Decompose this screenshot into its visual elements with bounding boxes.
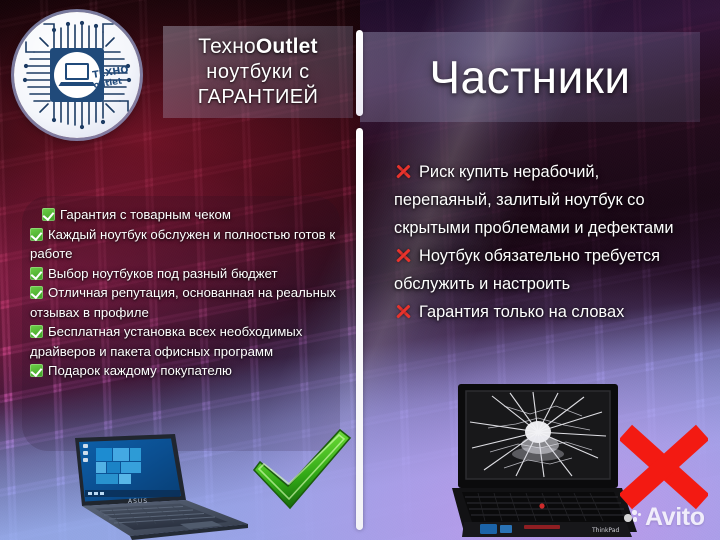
red-cross-icon	[394, 246, 413, 265]
list-item: Гарантия с товарным чеком	[42, 205, 342, 225]
list-item: Подарок каждому покупателю	[30, 361, 342, 381]
header-left-line2: ноутбуки с	[206, 62, 310, 84]
avito-dots-icon	[624, 510, 641, 525]
green-check-box-icon	[30, 325, 43, 338]
good-laptop-image: ASUS	[52, 432, 252, 540]
list-item: Отличная репутация, основанная на реальн…	[30, 283, 342, 322]
pros-list: Гарантия с товарным чеком Каждый ноутбук…	[30, 205, 342, 381]
techno-outlet-chip-laptop-logo-icon: ТЕХНО outlet	[14, 12, 140, 138]
open-asus-laptop-windows-desktop-icon: ASUS	[52, 432, 252, 540]
column-divider	[356, 128, 363, 530]
cons-list: Риск купить нерабочий, перепаяный, залит…	[394, 158, 694, 326]
list-item-label: Подарок каждому покупателю	[48, 363, 232, 378]
broken-screen-thinkpad-laptop-icon: ThinkPad	[432, 382, 652, 540]
list-item-label: Ноутбук обязательно требуется обслужить …	[394, 247, 660, 293]
list-item: Выбор ноутбуков под разный бюджет	[30, 264, 342, 284]
svg-text:ASUS: ASUS	[128, 498, 148, 505]
header-left-title-box: ТехноOutlet ноутбуки с ГАРАНТИЕЙ	[163, 26, 353, 118]
list-item: Бесплатная установка всех необходимых др…	[30, 322, 342, 361]
brand-name-prefix: Техно	[198, 35, 256, 58]
brand-name: ТехноOutlet	[198, 36, 318, 59]
promo-poster: ТЕХНО outlet ТехноOutlet ноутбуки с ГАРА…	[0, 0, 720, 540]
divider-top-segment	[356, 30, 363, 116]
list-item-label: Каждый ноутбук обслужен и полностью гото…	[30, 227, 335, 262]
list-item-label: Выбор ноутбуков под разный бюджет	[48, 266, 278, 281]
green-check-box-icon	[42, 208, 55, 221]
bad-laptop-image: ThinkPad	[432, 382, 652, 540]
list-item: Гарантия только на словах	[394, 298, 694, 326]
list-item: Каждый ноутбук обслужен и полностью гото…	[30, 225, 342, 264]
avito-watermark: Avito	[624, 505, 705, 530]
header-right-title: Частники	[429, 54, 630, 100]
list-item-label: Гарантия только на словах	[419, 303, 624, 321]
brand-name-suffix: Outlet	[256, 35, 318, 58]
green-check-box-icon	[30, 364, 43, 377]
red-cross-icon	[394, 162, 413, 181]
list-item: Ноутбук обязательно требуется обслужить …	[394, 242, 694, 298]
avito-wordmark: Avito	[645, 505, 705, 530]
header-left-line3: ГАРАНТИЕЙ	[198, 87, 319, 109]
big-green-checkmark-icon	[248, 426, 356, 514]
list-item-label: Риск купить нерабочий, перепаяный, залит…	[394, 163, 674, 237]
brand-logo: ТЕХНО outlet	[14, 12, 140, 138]
header-right-title-box: Частники	[360, 32, 700, 122]
red-cross-icon	[394, 302, 413, 321]
green-check-box-icon	[30, 228, 43, 241]
big-red-x-icon	[620, 424, 708, 510]
verdict-good	[248, 426, 356, 514]
green-check-box-icon	[30, 286, 43, 299]
verdict-bad	[620, 424, 708, 510]
svg-text:ThinkPad: ThinkPad	[591, 527, 619, 534]
list-item: Риск купить нерабочий, перепаяный, залит…	[394, 158, 694, 242]
green-check-box-icon	[30, 267, 43, 280]
list-item-label: Отличная репутация, основанная на реальн…	[30, 285, 336, 320]
list-item-label: Гарантия с товарным чеком	[60, 207, 231, 222]
list-item-label: Бесплатная установка всех необходимых др…	[30, 324, 302, 359]
